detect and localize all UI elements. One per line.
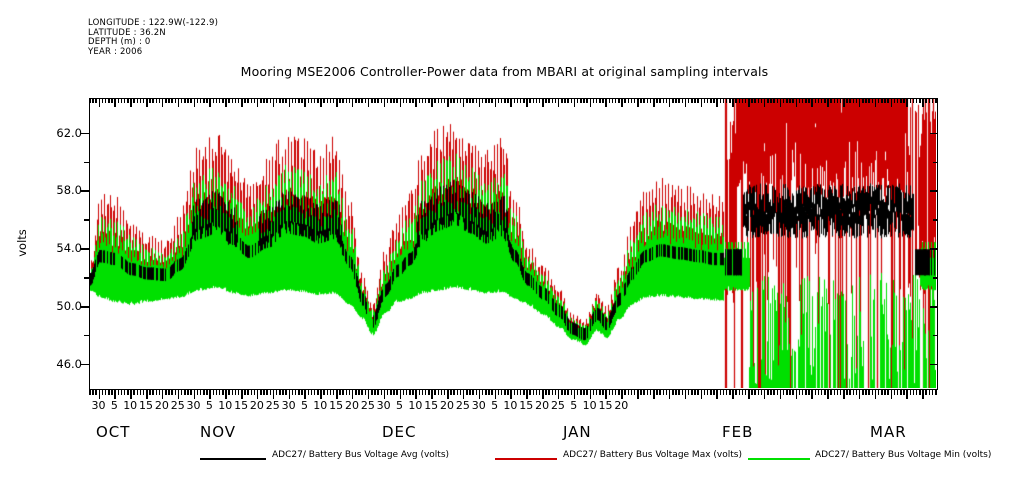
x-tick-mark-top [726, 98, 728, 103]
x-tick-mark [428, 390, 430, 395]
x-tick-label: 25 [361, 399, 375, 412]
metadata-block: LONGITUDE : 122.9W(-122.9) LATITUDE : 36… [88, 19, 218, 57]
x-tick-mark-top [846, 98, 848, 103]
x-tick-mark-top [881, 98, 883, 103]
x-tick-mark [640, 390, 642, 395]
x-tick-mark [539, 390, 541, 395]
x-tick-mark-top [171, 98, 173, 103]
x-tick-mark-top [767, 98, 769, 103]
x-tick-label: 15 [598, 399, 612, 412]
x-tick-mark-top [685, 98, 687, 107]
x-tick-mark-top [514, 98, 516, 103]
x-tick-mark [533, 390, 535, 395]
x-tick-mark [501, 390, 503, 395]
x-tick-mark-top [330, 98, 332, 103]
x-tick-mark-top [583, 98, 585, 103]
x-tick-mark [720, 390, 722, 395]
x-tick-mark [621, 390, 623, 399]
x-tick-mark-top [777, 98, 779, 103]
x-tick-mark [815, 390, 817, 395]
x-tick-mark-top [476, 98, 478, 103]
x-tick-mark [323, 390, 325, 395]
x-tick-label: 25 [171, 399, 185, 412]
x-tick-mark [545, 390, 547, 395]
x-tick-mark-top [368, 98, 370, 107]
x-tick-mark [824, 390, 826, 395]
x-tick-mark [450, 390, 452, 395]
x-tick-mark-top [444, 98, 446, 103]
x-tick-mark-top [254, 98, 256, 103]
x-tick-mark-top [301, 98, 303, 103]
x-tick-label: 25 [266, 399, 280, 412]
x-tick-mark [140, 390, 142, 395]
x-tick-mark [624, 390, 626, 395]
x-tick-mark-top [713, 98, 715, 103]
x-tick-mark-top [327, 98, 329, 103]
x-tick-mark-top [339, 98, 341, 103]
x-tick-mark-top [574, 98, 576, 107]
x-tick-mark [523, 390, 525, 395]
x-tick-mark-top [656, 98, 658, 103]
x-tick-mark [244, 390, 246, 395]
x-tick-mark-top [853, 98, 855, 103]
x-tick-mark-top [710, 98, 712, 103]
x-tick-label: 30 [92, 399, 106, 412]
x-tick-mark [279, 390, 281, 395]
x-tick-mark-top [650, 98, 652, 103]
x-tick-mark [596, 390, 598, 395]
x-tick-mark-top [811, 98, 813, 107]
x-tick-mark [789, 390, 791, 395]
x-tick-label: 10 [313, 399, 327, 412]
x-tick-label: 20 [345, 399, 359, 412]
x-tick-mark [653, 390, 655, 399]
x-tick-mark [289, 390, 291, 399]
x-tick-mark [773, 390, 775, 395]
x-tick-mark-top [729, 98, 731, 103]
x-tick-mark-top [349, 98, 351, 103]
x-tick-mark [735, 390, 737, 395]
x-tick-mark-top [577, 98, 579, 103]
x-tick-mark [479, 390, 481, 399]
x-tick-mark [913, 390, 915, 395]
x-tick-mark [361, 390, 363, 395]
x-tick-mark [675, 390, 677, 395]
x-tick-mark-top [764, 98, 766, 107]
x-tick-label: 30 [282, 399, 296, 412]
x-tick-mark [200, 390, 202, 395]
x-tick-mark-top [152, 98, 154, 103]
x-tick-mark-top [361, 98, 363, 103]
x-tick-mark [514, 390, 516, 395]
x-tick-label: 15 [329, 399, 343, 412]
x-tick-mark-top [140, 98, 142, 103]
x-tick-mark [377, 390, 379, 395]
x-tick-mark-top [675, 98, 677, 103]
x-tick-label: 10 [583, 399, 597, 412]
x-tick-mark-top [561, 98, 563, 103]
x-tick-mark [447, 390, 449, 399]
y-tick-mark [933, 162, 938, 164]
x-tick-mark [460, 390, 462, 395]
x-tick-mark-top [251, 98, 253, 103]
x-tick-mark [232, 390, 234, 395]
x-tick-mark-top [422, 98, 424, 103]
x-tick-mark [419, 390, 421, 395]
x-tick-mark-top [216, 98, 218, 103]
x-tick-mark-top [621, 98, 623, 107]
x-tick-mark [561, 390, 563, 395]
y-tick-label: 58.0 [56, 183, 82, 197]
x-tick-mark-top [758, 98, 760, 103]
x-tick-mark [168, 390, 170, 395]
legend-line-avg [200, 458, 266, 460]
x-tick-mark [165, 390, 167, 395]
x-tick-mark [333, 390, 335, 395]
x-tick-mark [476, 390, 478, 395]
x-tick-mark-top [137, 98, 139, 103]
legend-line-max [495, 458, 557, 460]
x-tick-mark [780, 390, 782, 399]
y-tick-mark [933, 277, 938, 279]
x-tick-mark-top [529, 98, 531, 103]
x-tick-mark-top [663, 98, 665, 103]
x-tick-mark [441, 390, 443, 395]
x-tick-mark-top [450, 98, 452, 103]
x-tick-label: 5 [206, 399, 213, 412]
x-tick-mark-top [840, 98, 842, 103]
x-tick-mark [308, 390, 310, 395]
x-tick-mark [520, 390, 522, 395]
y-tick-mark [930, 364, 938, 366]
x-tick-mark [548, 390, 550, 395]
x-tick-mark-top [796, 98, 798, 107]
x-tick-mark-top [311, 98, 313, 103]
month-label: FEB [722, 423, 753, 441]
x-tick-mark-top [482, 98, 484, 103]
x-tick-mark [602, 390, 604, 395]
x-tick-mark [894, 390, 896, 395]
x-tick-mark-top [523, 98, 525, 103]
x-tick-mark-top [412, 98, 414, 103]
x-tick-mark-top [615, 98, 617, 103]
x-tick-mark-top [910, 98, 912, 103]
x-tick-mark-top [894, 98, 896, 103]
x-tick-mark [365, 390, 367, 395]
x-tick-mark-top [393, 98, 395, 103]
x-tick-mark [605, 390, 607, 399]
x-tick-mark [190, 390, 192, 395]
x-tick-mark [618, 390, 620, 395]
x-tick-mark-top [780, 98, 782, 107]
x-tick-mark [701, 390, 703, 399]
x-tick-mark-top [827, 98, 829, 107]
x-tick-mark-top [802, 98, 804, 103]
x-tick-mark-top [526, 98, 528, 107]
x-tick-mark [488, 390, 490, 395]
x-tick-mark-top [447, 98, 449, 107]
chart-title: Mooring MSE2006 Controller-Power data fr… [0, 64, 1009, 79]
x-tick-mark-top [824, 98, 826, 103]
x-tick-mark-top [285, 98, 287, 103]
x-tick-mark-top [187, 98, 189, 103]
x-tick-mark-top [897, 98, 899, 103]
x-tick-mark [181, 390, 183, 395]
x-tick-label: 30 [377, 399, 391, 412]
x-tick-mark-top [409, 98, 411, 103]
x-tick-mark-top [906, 98, 908, 107]
x-tick-mark-top [441, 98, 443, 103]
x-tick-mark [875, 390, 877, 399]
x-tick-mark [254, 390, 256, 395]
x-tick-mark [808, 390, 810, 395]
x-tick-mark [390, 390, 392, 395]
x-tick-mark [726, 390, 728, 395]
x-tick-mark [213, 390, 215, 395]
x-tick-mark [919, 390, 921, 395]
x-tick-mark [472, 390, 474, 395]
x-tick-mark-top [596, 98, 598, 103]
y-tick-mark [81, 133, 89, 135]
x-tick-mark-top [517, 98, 519, 103]
x-tick-mark-top [400, 98, 402, 107]
x-tick-mark-top [865, 98, 867, 103]
x-tick-mark-top [485, 98, 487, 103]
x-tick-mark [263, 390, 265, 395]
x-tick-mark-top [346, 98, 348, 103]
x-tick-mark [897, 390, 899, 395]
x-tick-label: 10 [218, 399, 232, 412]
x-tick-mark-top [634, 98, 636, 103]
y-tick-mark [81, 190, 89, 192]
x-tick-mark [175, 390, 177, 395]
y-tick-mark [84, 335, 89, 337]
x-tick-mark [688, 390, 690, 395]
x-tick-mark [849, 390, 851, 395]
x-tick-mark-top [130, 98, 132, 107]
x-tick-mark-top [637, 98, 639, 107]
x-tick-mark [761, 390, 763, 395]
x-tick-mark [92, 390, 94, 395]
x-tick-mark-top [257, 98, 259, 107]
x-tick-mark-top [276, 98, 278, 103]
x-tick-mark-top [552, 98, 554, 103]
x-tick-mark-top [761, 98, 763, 103]
legend-label-max: ADC27/ Battery Bus Voltage Max (volts) [563, 450, 742, 460]
x-tick-mark-top [593, 98, 595, 103]
x-tick-mark-top [228, 98, 230, 103]
x-tick-mark [634, 390, 636, 395]
x-tick-mark-top [241, 98, 243, 107]
x-tick-mark-top [263, 98, 265, 103]
x-tick-mark [425, 390, 427, 395]
x-tick-mark [577, 390, 579, 395]
x-tick-mark-top [789, 98, 791, 103]
x-tick-mark-top [732, 98, 734, 107]
x-tick-mark-top [704, 98, 706, 103]
x-tick-mark-top [469, 98, 471, 103]
x-tick-mark-top [434, 98, 436, 103]
x-tick-mark-top [390, 98, 392, 103]
x-tick-mark [434, 390, 436, 395]
x-tick-mark-top [609, 98, 611, 103]
x-tick-mark [542, 390, 544, 399]
x-tick-mark [659, 390, 661, 395]
series-canvas [90, 99, 936, 388]
x-tick-mark [219, 390, 221, 395]
x-tick-mark-top [495, 98, 497, 107]
x-tick-mark [209, 390, 211, 399]
x-tick-mark [859, 390, 861, 399]
x-tick-mark [884, 390, 886, 395]
x-tick-mark-top [403, 98, 405, 103]
x-tick-mark [225, 390, 227, 399]
x-tick-mark [764, 390, 766, 399]
x-tick-mark [770, 390, 772, 395]
x-tick-mark [504, 390, 506, 395]
x-tick-mark-top [238, 98, 240, 103]
x-tick-mark [260, 390, 262, 395]
x-tick-mark [178, 390, 180, 399]
x-tick-mark-top [133, 98, 135, 103]
x-tick-mark-top [396, 98, 398, 103]
x-tick-mark [216, 390, 218, 395]
x-tick-mark [647, 390, 649, 395]
y-tick-label: 62.0 [56, 126, 82, 140]
y-tick-mark [930, 133, 938, 135]
x-tick-mark [133, 390, 135, 395]
x-tick-mark [846, 390, 848, 395]
x-tick-mark-top [279, 98, 281, 103]
x-tick-mark [463, 390, 465, 399]
x-tick-label: 5 [491, 399, 498, 412]
x-tick-mark [571, 390, 573, 395]
x-tick-mark [371, 390, 373, 395]
x-tick-mark [235, 390, 237, 395]
x-tick-mark-top [694, 98, 696, 103]
x-tick-mark-top [520, 98, 522, 103]
x-tick-label: 20 [440, 399, 454, 412]
x-tick-mark-top [586, 98, 588, 103]
x-tick-mark [301, 390, 303, 395]
x-tick-mark [593, 390, 595, 395]
x-tick-mark-top [222, 98, 224, 103]
x-tick-mark [222, 390, 224, 395]
x-tick-mark-top [720, 98, 722, 103]
x-tick-mark [716, 390, 718, 399]
x-tick-mark-top [342, 98, 344, 103]
x-tick-mark-top [190, 98, 192, 103]
x-tick-mark [536, 390, 538, 395]
x-tick-mark-top [590, 98, 592, 107]
x-tick-mark-top [247, 98, 249, 103]
x-tick-mark-top [143, 98, 145, 103]
x-tick-mark [929, 390, 931, 395]
x-tick-mark-top [491, 98, 493, 103]
y-axis-tick-labels: 46.050.054.058.062.0 [0, 0, 82, 504]
y-tick-mark [930, 306, 938, 308]
x-tick-mark [748, 390, 750, 399]
x-tick-mark-top [358, 98, 360, 103]
x-tick-mark [482, 390, 484, 395]
x-tick-mark-top [162, 98, 164, 107]
x-tick-mark [663, 390, 665, 395]
x-tick-label: 30 [472, 399, 486, 412]
y-tick-mark [930, 248, 938, 250]
x-tick-mark-top [406, 98, 408, 103]
plot-area [89, 98, 938, 390]
x-tick-mark-top [114, 98, 116, 107]
x-tick-mark [469, 390, 471, 395]
x-tick-mark-top [735, 98, 737, 103]
x-tick-mark [767, 390, 769, 395]
month-label: DEC [382, 423, 417, 441]
x-tick-mark-top [428, 98, 430, 103]
x-tick-mark [903, 390, 905, 395]
x-tick-mark-top [751, 98, 753, 103]
x-tick-mark [137, 390, 139, 395]
x-tick-mark-top [156, 98, 158, 103]
x-tick-mark-top [181, 98, 183, 103]
x-tick-mark [114, 390, 116, 399]
x-tick-mark [422, 390, 424, 395]
x-tick-mark-top [352, 98, 354, 107]
x-tick-mark [314, 390, 316, 395]
x-tick-mark-top [194, 98, 196, 107]
x-tick-mark [146, 390, 148, 399]
month-label: NOV [200, 423, 236, 441]
y-tick-mark [84, 219, 89, 221]
x-tick-mark [713, 390, 715, 395]
x-tick-mark-top [105, 98, 107, 103]
x-tick-mark [105, 390, 107, 395]
x-tick-mark [339, 390, 341, 395]
x-tick-mark [355, 390, 357, 395]
x-tick-mark [729, 390, 731, 395]
x-tick-mark [400, 390, 402, 399]
x-tick-mark [276, 390, 278, 395]
x-tick-mark-top [460, 98, 462, 103]
x-tick-mark [374, 390, 376, 395]
x-tick-mark [457, 390, 459, 395]
x-tick-mark [558, 390, 560, 399]
x-tick-mark-top [922, 98, 924, 107]
x-tick-label: 5 [570, 399, 577, 412]
x-tick-mark-top [457, 98, 459, 103]
chart-legend: ADC27/ Battery Bus Voltage Avg (volts)AD… [0, 450, 1009, 470]
x-tick-mark [311, 390, 313, 395]
x-tick-mark-top [672, 98, 674, 103]
month-label: MAR [870, 423, 907, 441]
x-tick-mark [732, 390, 734, 399]
x-tick-mark-top [754, 98, 756, 103]
x-tick-mark [691, 390, 693, 395]
x-tick-mark-top [682, 98, 684, 103]
x-tick-mark [453, 390, 455, 395]
x-tick-mark-top [197, 98, 199, 103]
x-tick-label: 15 [519, 399, 533, 412]
x-tick-mark-top [124, 98, 126, 103]
x-tick-mark [856, 390, 858, 395]
y-tick-mark [81, 306, 89, 308]
x-tick-mark [704, 390, 706, 395]
x-tick-mark-top [89, 98, 91, 103]
x-tick-mark-top [716, 98, 718, 107]
x-tick-mark-top [605, 98, 607, 107]
x-tick-mark-top [624, 98, 626, 103]
x-tick-mark-top [387, 98, 389, 103]
x-tick-mark-top [507, 98, 509, 103]
